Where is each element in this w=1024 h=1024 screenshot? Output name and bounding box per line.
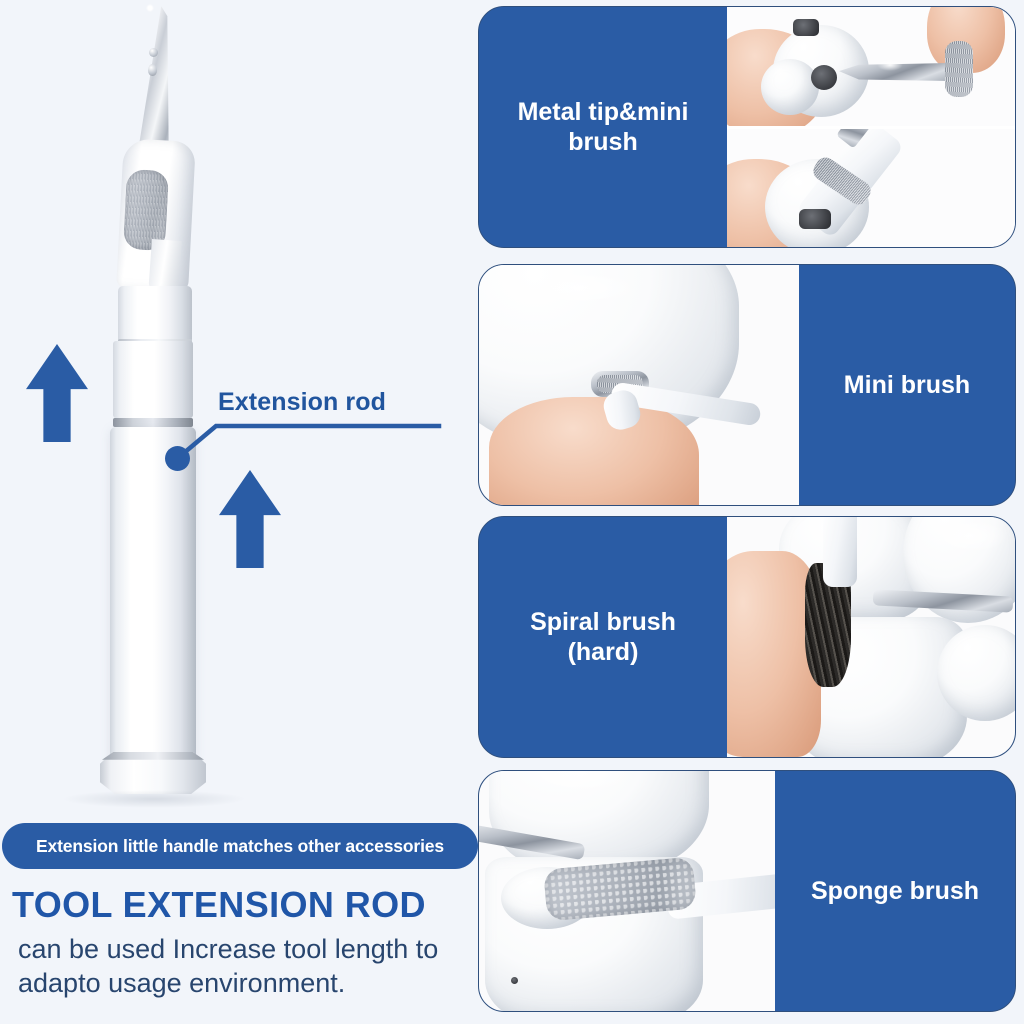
pen-body-segment-upper bbox=[118, 286, 192, 341]
feature-card-metal-tip-mini-brush: Metal tip&mini brush bbox=[478, 6, 1016, 248]
feature-card-label-2: Mini brush bbox=[799, 265, 1015, 505]
mini-brush-grey-pad bbox=[945, 41, 973, 97]
feature-card-mini-brush: Mini brush bbox=[478, 264, 1016, 506]
feature-card-label-text-1: Metal tip&mini brush bbox=[493, 97, 713, 158]
feature-card-list: Metal tip&mini brush bbox=[470, 0, 1024, 1024]
feature-card-label-text-4: Sponge brush bbox=[811, 876, 979, 907]
page-title: TOOL EXTENSION ROD bbox=[12, 884, 426, 926]
tool-handle bbox=[823, 517, 857, 587]
extension-rod-label: Extension rod bbox=[218, 388, 386, 417]
feature-card-label-3: Spiral brush (hard) bbox=[479, 517, 727, 757]
case-glare bbox=[933, 519, 1007, 553]
feature-photo-group-1 bbox=[727, 7, 1015, 247]
tip-highlight-icon bbox=[146, 4, 154, 12]
earbud-grille bbox=[799, 209, 831, 229]
feature-card-label-1: Metal tip&mini brush bbox=[479, 7, 727, 247]
metal-tip-hole-lower-icon bbox=[148, 64, 157, 76]
feature-card-sponge-brush: Sponge brush bbox=[478, 770, 1016, 1012]
feature-card-spiral-brush: Spiral brush (hard) bbox=[478, 516, 1016, 758]
feature-card-label-4: Sponge brush bbox=[775, 771, 1015, 1011]
metal-glare bbox=[877, 59, 903, 71]
earbud-mesh-grille bbox=[793, 19, 819, 36]
page-subtitle: can be used Increase tool length to adap… bbox=[18, 932, 458, 1000]
metal-tip-hole-upper-icon bbox=[149, 48, 158, 57]
earbud-nozzle-mesh bbox=[811, 65, 837, 90]
left-pane: Extension rod Extension little handle ma… bbox=[0, 0, 470, 1024]
extension-rod-body bbox=[110, 427, 196, 767]
photo-mini-brush-on-earbud bbox=[727, 126, 1015, 248]
photo-mini-brush-charging-port bbox=[479, 265, 799, 505]
case-led-indicator bbox=[511, 977, 518, 984]
photo-spiral-brush-in-case bbox=[727, 517, 1015, 757]
photo-metal-tip-cleaning-earbud bbox=[727, 7, 1015, 126]
pen-ground-shadow bbox=[62, 790, 246, 808]
mini-brush-pad-icon bbox=[123, 169, 169, 251]
pill-caption: Extension little handle matches other ac… bbox=[2, 823, 478, 869]
photo-sponge-brush-in-case bbox=[479, 771, 775, 1011]
extension-rod-callout: Extension rod bbox=[150, 388, 450, 478]
feature-card-label-text-2: Mini brush bbox=[844, 370, 970, 401]
case-glare bbox=[519, 271, 639, 305]
feature-card-label-text-3: Spiral brush (hard) bbox=[493, 607, 713, 668]
finger-shape bbox=[489, 397, 699, 505]
infographic-canvas: Extension rod Extension little handle ma… bbox=[0, 0, 1024, 1024]
pill-caption-text: Extension little handle matches other ac… bbox=[36, 836, 444, 857]
earbud-tip-shape bbox=[761, 59, 819, 115]
extension-rod-anchor-dot-icon bbox=[165, 446, 190, 471]
